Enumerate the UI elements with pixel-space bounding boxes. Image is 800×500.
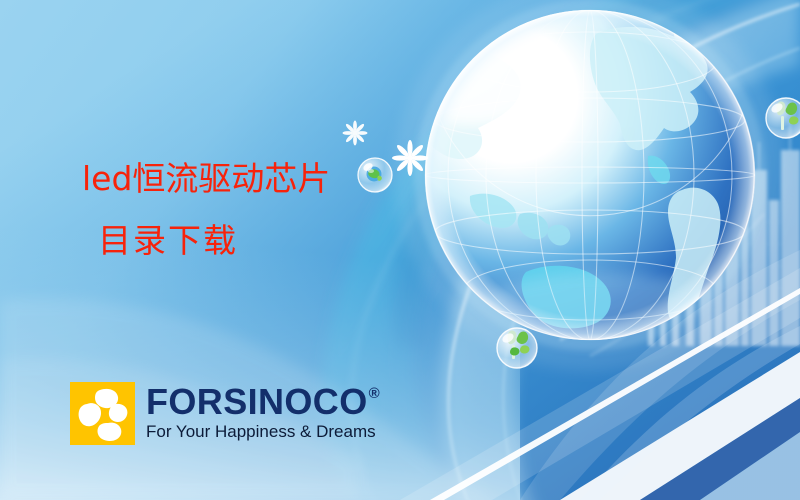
bubble-globe [358, 158, 392, 192]
sparkle-flower-large [392, 140, 428, 176]
registered-trademark-icon: ® [369, 386, 380, 401]
logo-wordmark-text: FORSINOCO [146, 384, 368, 420]
logo-wordmark-row: FORSINOCO ® [146, 384, 380, 420]
logo-text-block: FORSINOCO ® For Your Happiness & Dreams [146, 384, 380, 441]
bubble-tree [497, 328, 537, 368]
bubble-tree-right [766, 98, 800, 138]
slide-canvas: led恒流驱动芯片 目录下载 FORSINOCO ® [0, 0, 800, 500]
brand-logo: FORSINOCO ® For Your Happiness & Dreams [70, 382, 380, 445]
sparkle-flower-small [343, 121, 368, 146]
pinwheel-icon [70, 382, 135, 445]
logo-tagline: For Your Happiness & Dreams [146, 422, 380, 441]
globe-rim-light [425, 10, 755, 340]
forsinoco-pinwheel-mark [70, 382, 135, 445]
